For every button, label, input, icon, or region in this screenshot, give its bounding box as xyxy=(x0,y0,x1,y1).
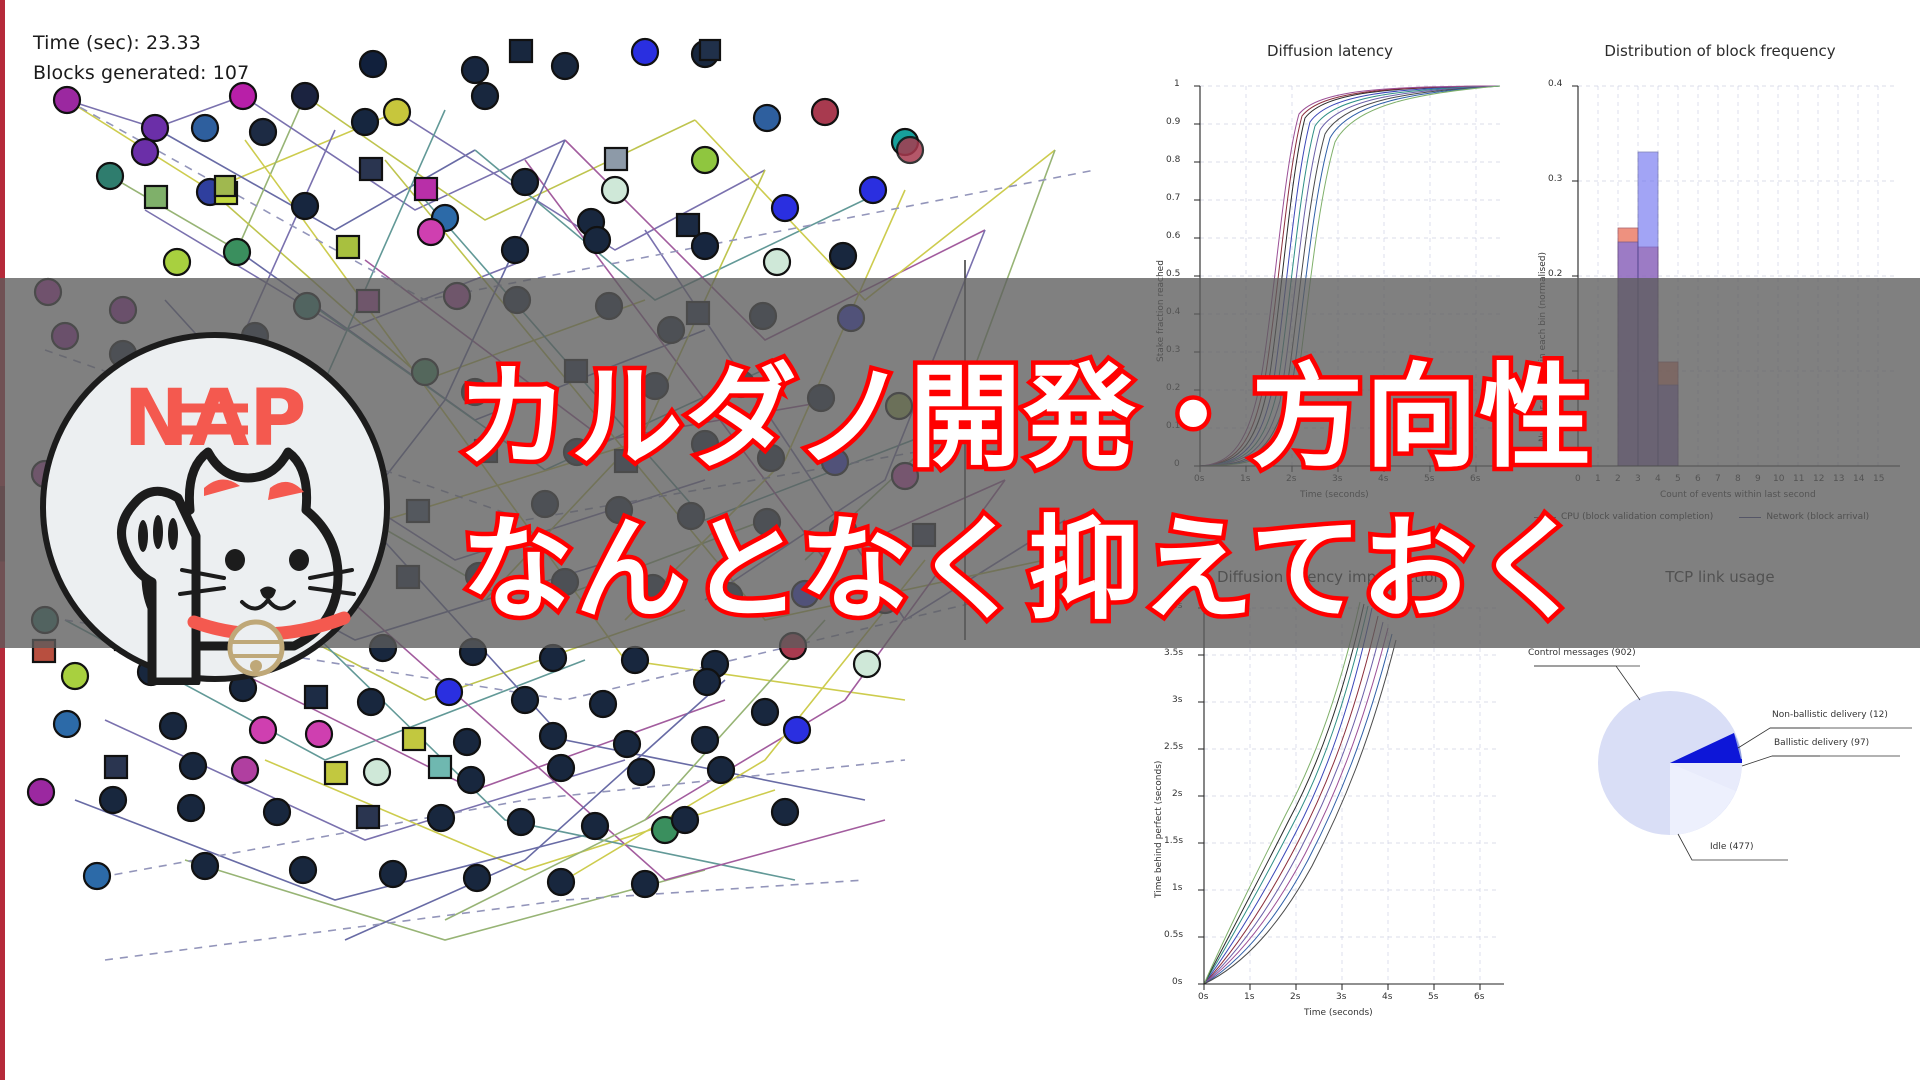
xt-dli-4: 4s xyxy=(1382,992,1392,1002)
pie-label-non-ballistic: Non-ballistic delivery (12) xyxy=(1772,710,1888,720)
xt-dli-2: 2s xyxy=(1290,992,1300,1002)
diffusion-latency-imperfection-plot xyxy=(1140,582,1520,1072)
xt-dli-0: 0s xyxy=(1198,992,1208,1002)
xt-dli-3: 3s xyxy=(1336,992,1346,1002)
xt-dli-6: 6s xyxy=(1474,992,1484,1002)
yt-dl-1: 1 xyxy=(1174,79,1180,89)
xt-dli-1: 1s xyxy=(1244,992,1254,1002)
yt-dli-0: 0s xyxy=(1172,977,1182,987)
xt-dli-5: 5s xyxy=(1428,992,1438,1002)
headline-line-1-text: カルダノ開発・方向性 xyxy=(457,358,1594,478)
yt-dl-08: 0.8 xyxy=(1166,155,1180,165)
headline-line-1: カルダノ開発・方向性 xyxy=(0,358,1920,478)
yt-bf-03: 0.3 xyxy=(1548,174,1562,184)
pie-label-control-messages: Control messages (902) xyxy=(1528,648,1636,658)
hud-time: Time (sec): 23.33 xyxy=(33,28,249,58)
yt-dli-15: 1.5s xyxy=(1164,836,1183,846)
yt-dli-1: 1s xyxy=(1172,883,1182,893)
headline-line-2-text: なんとなく抑えておく xyxy=(461,510,1589,630)
yt-dl-09: 0.9 xyxy=(1166,117,1180,127)
pie-label-ballistic: Ballistic delivery (97) xyxy=(1774,738,1869,748)
xlabel-diffusion-latency-imperfection: Time (seconds) xyxy=(1304,1008,1373,1018)
yt-dli-05: 0.5s xyxy=(1164,930,1183,940)
headline-line-2: なんとなく抑えておく xyxy=(0,510,1920,630)
yt-dl-07: 0.7 xyxy=(1166,193,1180,203)
app-screenshot: .ln{fill:none;stroke-width:1.6;} .nd{str… xyxy=(0,0,1920,1080)
yt-dli-35: 3.5s xyxy=(1164,648,1183,658)
yt-dli-25: 2.5s xyxy=(1164,742,1183,752)
simulation-hud: Time (sec): 23.33 Blocks generated: 107 xyxy=(33,28,249,88)
hud-blocks: Blocks generated: 107 xyxy=(33,58,249,88)
pie-label-idle: Idle (477) xyxy=(1710,842,1753,852)
yt-dli-2: 2s xyxy=(1172,789,1182,799)
yt-dl-06: 0.6 xyxy=(1166,231,1180,241)
ylabel-diffusion-latency-imperfection: Time behind perfect (seconds) xyxy=(1154,761,1164,898)
yt-bf-04: 0.4 xyxy=(1548,79,1562,89)
yt-dli-3: 3s xyxy=(1172,695,1182,705)
